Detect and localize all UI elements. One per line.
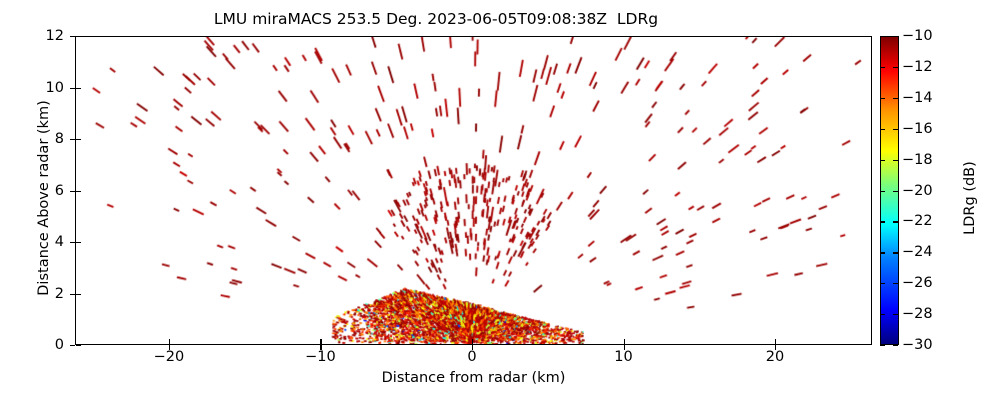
colorbar-tick-label: −18 [902,152,933,168]
y-tick-mark-inner [76,36,81,37]
colorbar-tick-label: −20 [902,183,933,199]
colorbar-tick-label: −12 [902,59,933,75]
colorbar-tick-mark-inner [893,98,898,99]
y-tick-mark-inner [76,88,81,89]
x-axis-label: Distance from radar (km) [75,370,872,386]
colorbar-tick-mark-inner [893,345,898,346]
colorbar-label: LDRg (dB) [962,98,978,298]
figure-canvas: LMU miraMACS 253.5 Deg. 2023-06-05T09:08… [0,0,1000,400]
y-tick-mark-inner [76,139,81,140]
x-tick-mark-inner [624,339,625,344]
y-tick-label: 8 [0,131,64,147]
colorbar-tick-mark-inner [893,160,898,161]
y-tick-label: 0 [0,337,64,353]
y-axis-label: Distance Above radar (km) [36,58,52,338]
colorbar-tick-label: −10 [902,28,933,44]
colorbar-tick-mark [880,191,885,192]
colorbar-tick-mark-inner [893,191,898,192]
colorbar-tick-mark [880,129,885,130]
y-tick-label: 2 [0,286,64,302]
plot-axes [75,36,872,345]
colorbar-tick-mark-inner [893,67,898,68]
x-tick-mark-inner [169,339,170,344]
colorbar-tick-mark [880,67,885,68]
x-tick-label: 0 [467,349,476,365]
chart-title: LMU miraMACS 253.5 Deg. 2023-06-05T09:08… [0,10,872,28]
y-tick-mark-inner [76,242,81,243]
x-tick-mark-inner [775,339,776,344]
colorbar-tick-mark [880,160,885,161]
y-tick-mark-inner [76,191,81,192]
scatter-data-layer [76,37,871,344]
colorbar-tick-mark-inner [893,252,898,253]
colorbar-tick-label: −22 [902,213,933,229]
colorbar-tick-mark [880,36,885,37]
x-tick-mark-inner [472,339,473,344]
y-tick-label: 6 [0,183,64,199]
y-tick-label: 12 [0,28,64,44]
colorbar-tick-label: −16 [902,121,933,137]
colorbar-tick-label: −14 [902,90,933,106]
x-tick-mark-inner [320,339,321,344]
colorbar-tick-label: −30 [902,337,933,353]
colorbar-tick-mark [880,252,885,253]
x-tick-label: 10 [614,349,632,365]
colorbar-tick-mark [880,314,885,315]
colorbar-tick-label: −26 [902,275,933,291]
y-tick-mark [70,139,75,140]
colorbar-tick-mark [880,98,885,99]
x-tick-label: 20 [766,349,784,365]
colorbar-tick-label: −28 [902,306,933,322]
y-tick-mark [70,294,75,295]
colorbar-tick-mark [880,283,885,284]
y-tick-mark-inner [76,345,81,346]
colorbar-tick-mark-inner [893,283,898,284]
y-tick-mark [70,36,75,37]
colorbar-tick-mark [880,221,885,222]
colorbar-tick-mark-inner [893,36,898,37]
colorbar-tick-mark [880,345,885,346]
y-tick-label: 4 [0,234,64,250]
y-tick-mark [70,191,75,192]
y-tick-mark [70,345,75,346]
colorbar-tick-label: −24 [902,244,933,260]
y-tick-label: 10 [0,80,64,96]
colorbar-tick-mark-inner [893,129,898,130]
x-tick-label: −20 [154,349,185,365]
y-tick-mark-inner [76,294,81,295]
colorbar-tick-mark-inner [893,314,898,315]
colorbar-tick-mark-inner [893,221,898,222]
y-tick-mark [70,88,75,89]
x-tick-label: −10 [305,349,336,365]
y-tick-mark [70,242,75,243]
